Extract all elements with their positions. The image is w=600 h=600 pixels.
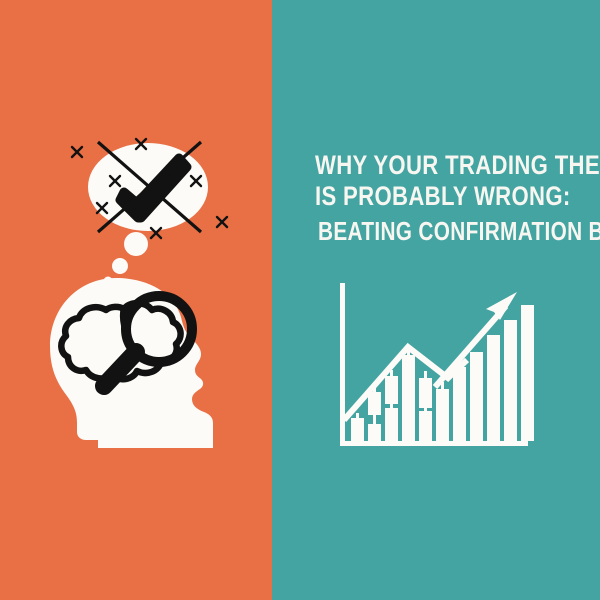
y-axis-line [340, 283, 345, 446]
bar [470, 352, 483, 441]
poster-canvas: WHY YOUR TRADING THESIS IS PROBABLY WRON… [0, 0, 600, 600]
bar [368, 424, 381, 441]
headline-line-2: IS PROBABLY WRONG: [315, 181, 561, 212]
headline-line-1: WHY YOUR TRADING THESIS [315, 150, 561, 181]
bar [504, 320, 517, 441]
bar [487, 335, 500, 441]
x-axis-line [340, 441, 528, 446]
headline-line-3: BEATING CONFIRMATION BIAS [318, 212, 558, 250]
thought-trail-dots [104, 232, 149, 286]
bar [521, 305, 534, 441]
headline-block: WHY YOUR TRADING THESIS IS PROBABLY WRON… [288, 150, 588, 250]
growth-chart-illustration [320, 275, 540, 465]
head-brain-illustration [20, 120, 260, 460]
